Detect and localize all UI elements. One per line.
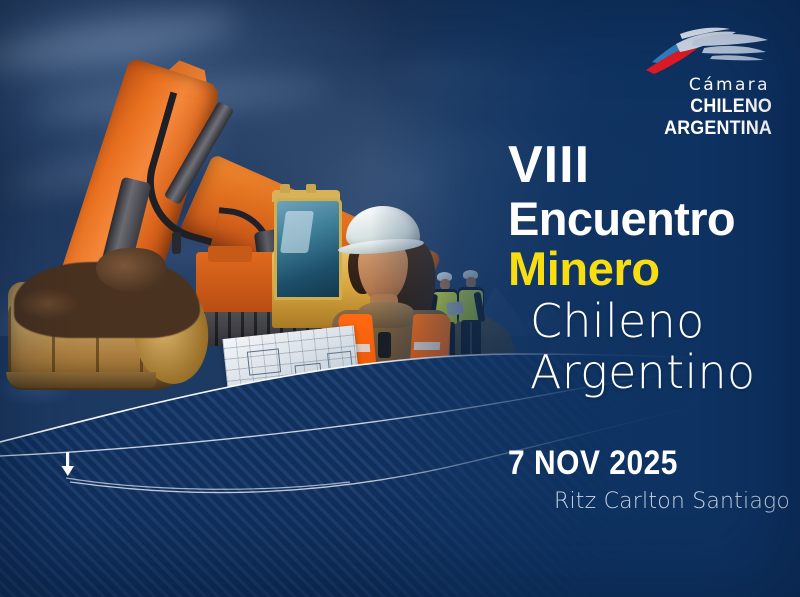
headline-minero: Minero — [508, 245, 798, 294]
logo-text-block: Cámara CHILENO ARGENTINA — [572, 76, 772, 140]
brushstroke-flag-swoosh-icon — [632, 26, 772, 78]
headline-block: VIII Encuentro Minero Chileno Argentino — [508, 140, 798, 399]
logo-line-camara: Cámara — [572, 76, 772, 96]
headline-edition: VIII — [508, 140, 798, 191]
cab-roof-knob — [280, 184, 290, 193]
headline-chileno: Chileno — [508, 296, 798, 348]
headline-argentino: Argentino — [508, 347, 798, 399]
event-details-block: 7 NOV 2025 Ritz Carlton Santiago — [508, 446, 798, 514]
excavator-engine-cover — [208, 246, 252, 262]
poster-canvas: Cámara CHILENO ARGENTINA VIII Encuentro … — [0, 0, 800, 597]
event-venue: Ritz Carlton Santiago — [508, 489, 798, 514]
logo-line-chileno-argentina: CHILENO ARGENTINA — [584, 96, 772, 141]
machine-part — [172, 232, 181, 254]
logo-camara-chileno-argentina[interactable]: Cámara CHILENO ARGENTINA — [572, 26, 772, 118]
headline-encuentro: Encuentro — [508, 195, 798, 244]
event-date: 7 NOV 2025 — [508, 446, 763, 482]
cab-roof-knob — [306, 184, 316, 193]
